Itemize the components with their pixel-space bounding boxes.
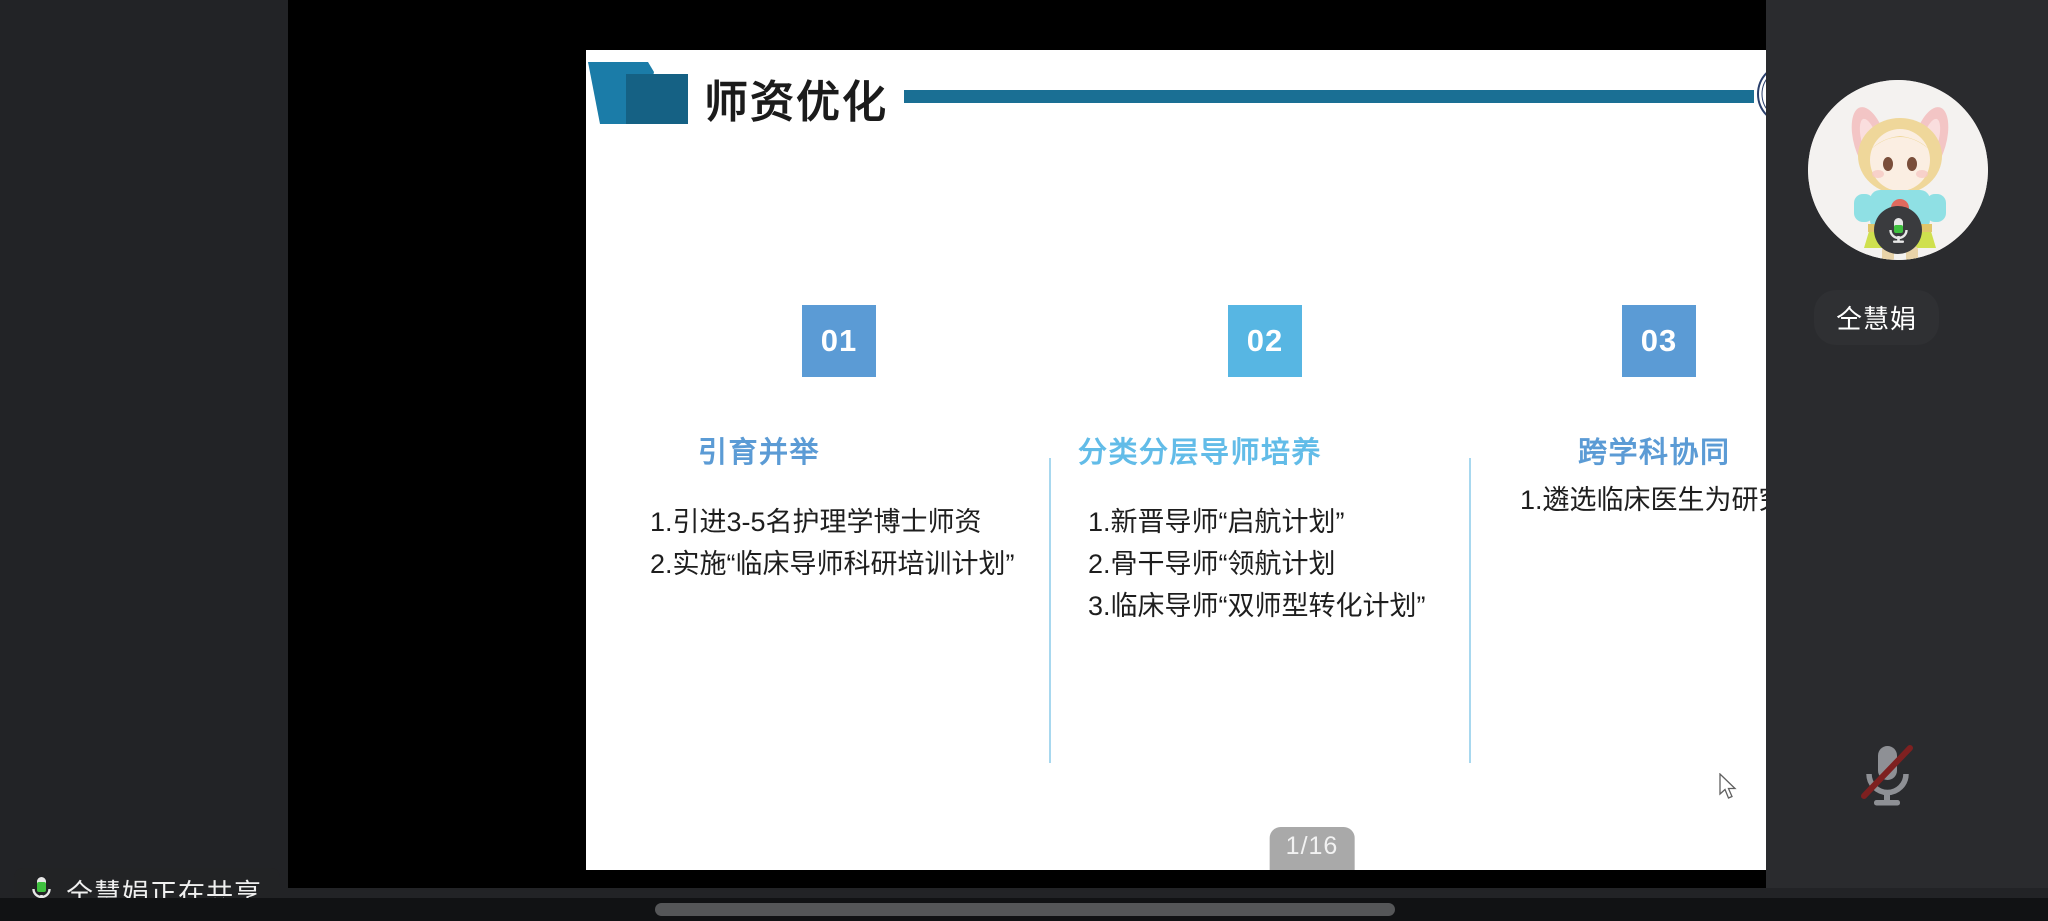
list-item: 2.实施“临床导师科研培训计划”: [646, 543, 1066, 585]
list-item: 3.临床导师“双师型转化计划”: [1066, 585, 1486, 627]
list-item: 1.引进3-5名护理学博士师资: [646, 501, 1066, 543]
slide-column-2: 02 分类分层导师培养 1.新晋导师“启航计划” 2.骨干导师“领航计划 3.临…: [1066, 305, 1486, 627]
column-number-badge: 01: [802, 305, 876, 377]
column-heading: 分类分层导师培养: [1066, 429, 1486, 471]
microphone-active-icon: [1874, 206, 1922, 254]
column-heading: 引育并举: [646, 429, 1066, 471]
horizontal-scrollbar-thumb[interactable]: [655, 903, 1395, 916]
meeting-screen: 师资优化 沈阳医学院 沈阳醫學院 SHENYA: [0, 0, 2048, 921]
participant-name: 仝慧娟: [1814, 290, 1939, 345]
slide-column-1: 01 引育并举 1.引进3-5名护理学博士师资 2.实施“临床导师科研培训计划”: [646, 305, 1066, 585]
column-body: 1.引进3-5名护理学博士师资 2.实施“临床导师科研培训计划”: [646, 501, 1066, 585]
shared-screen-viewport[interactable]: 师资优化 沈阳医学院 沈阳醫學院 SHENYA: [288, 0, 1766, 888]
column-number-badge: 03: [1622, 305, 1696, 377]
participant-tile[interactable]: [1808, 80, 1988, 260]
mouse-pointer-icon: [1719, 773, 1741, 803]
list-item: 1.新晋导师“启航计划”: [1066, 501, 1486, 543]
column-body: 1.新晋导师“启航计划” 2.骨干导师“领航计划 3.临床导师“双师型转化计划”: [1066, 501, 1486, 627]
column-number-badge: 02: [1228, 305, 1302, 377]
list-item: 2.骨干导师“领航计划: [1066, 543, 1486, 585]
page-indicator: 1/16: [1270, 827, 1355, 870]
microphone-muted-icon[interactable]: [1854, 738, 1920, 810]
